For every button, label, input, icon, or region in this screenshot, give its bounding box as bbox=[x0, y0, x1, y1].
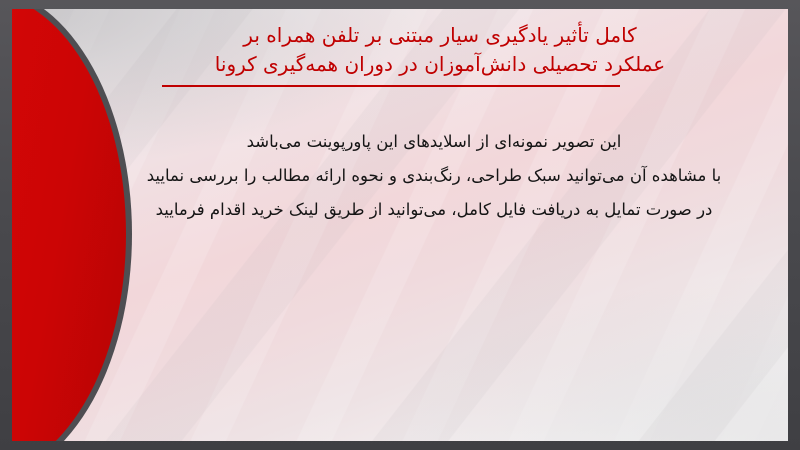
slide-canvas: کامل تأثیر یادگیری سیار مبتنی بر تلفن هم… bbox=[12, 9, 788, 441]
slide-title: کامل تأثیر یادگیری سیار مبتنی بر تلفن هم… bbox=[120, 21, 760, 79]
slide-title-line-2: عملکرد تحصیلی دانش‌آموزان در دوران همه‌گ… bbox=[120, 50, 760, 79]
red-ellipse-outline bbox=[12, 9, 132, 441]
slide-body-text: این تصویر نمونه‌ای از اسلایدهای این پاور… bbox=[116, 125, 752, 226]
red-ellipse-shape bbox=[12, 9, 132, 441]
slide-body-line-3: در صورت تمایل به دریافت فایل کامل، می‌تو… bbox=[116, 193, 752, 227]
slide-title-line-1: کامل تأثیر یادگیری سیار مبتنی بر تلفن هم… bbox=[120, 21, 760, 50]
presentation-slide: کامل تأثیر یادگیری سیار مبتنی بر تلفن هم… bbox=[0, 0, 800, 450]
slide-body-line-2: با مشاهده آن می‌توانید سبک طراحی، رنگ‌بن… bbox=[116, 159, 752, 193]
red-ellipse-fill bbox=[12, 9, 126, 441]
slide-title-underline bbox=[162, 85, 620, 87]
slide-body-line-1: این تصویر نمونه‌ای از اسلایدهای این پاور… bbox=[116, 125, 752, 159]
red-ellipse-gloss bbox=[12, 9, 124, 441]
